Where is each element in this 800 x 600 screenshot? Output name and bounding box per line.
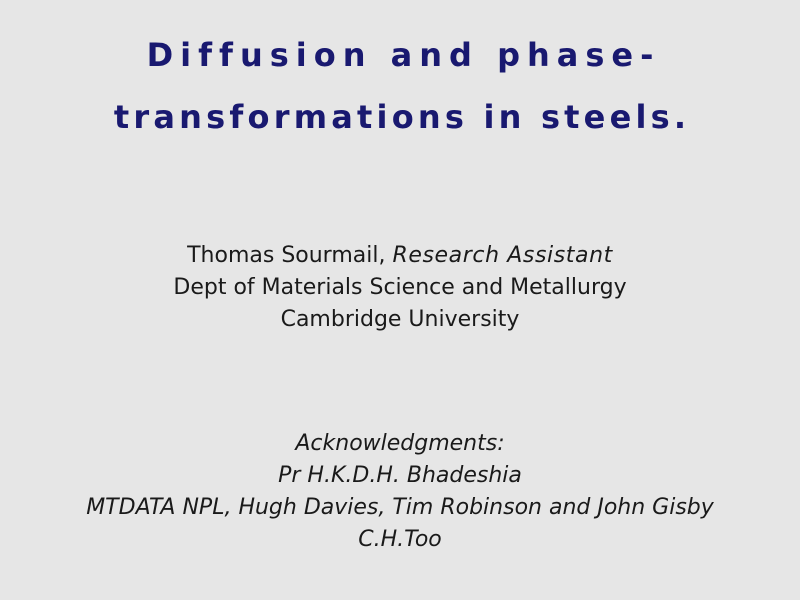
acknowledgment-line: C.H.Too [0, 524, 800, 556]
presentation-title-slide: Diffusion and phase- transformations in … [0, 0, 800, 600]
slide-title: Diffusion and phase- transformations in … [0, 24, 800, 148]
title-line-2: transformations in steels. [0, 86, 800, 148]
acknowledgment-line: Pr H.K.D.H. Bhadeshia [0, 460, 800, 492]
author-name: Thomas Sourmail, [187, 243, 392, 268]
acknowledgments-heading: Acknowledgments: [0, 428, 800, 460]
author-department: Dept of Materials Science and Metallurgy [0, 272, 800, 304]
title-line-1: Diffusion and phase- [0, 24, 800, 86]
author-block: Thomas Sourmail, Research Assistant Dept… [0, 240, 800, 336]
acknowledgments-block: Acknowledgments: Pr H.K.D.H. Bhadeshia M… [0, 428, 800, 556]
acknowledgment-line: MTDATA NPL, Hugh Davies, Tim Robinson an… [0, 492, 800, 524]
author-role: Research Assistant [392, 243, 612, 268]
author-name-line: Thomas Sourmail, Research Assistant [0, 240, 800, 272]
author-institution: Cambridge University [0, 304, 800, 336]
